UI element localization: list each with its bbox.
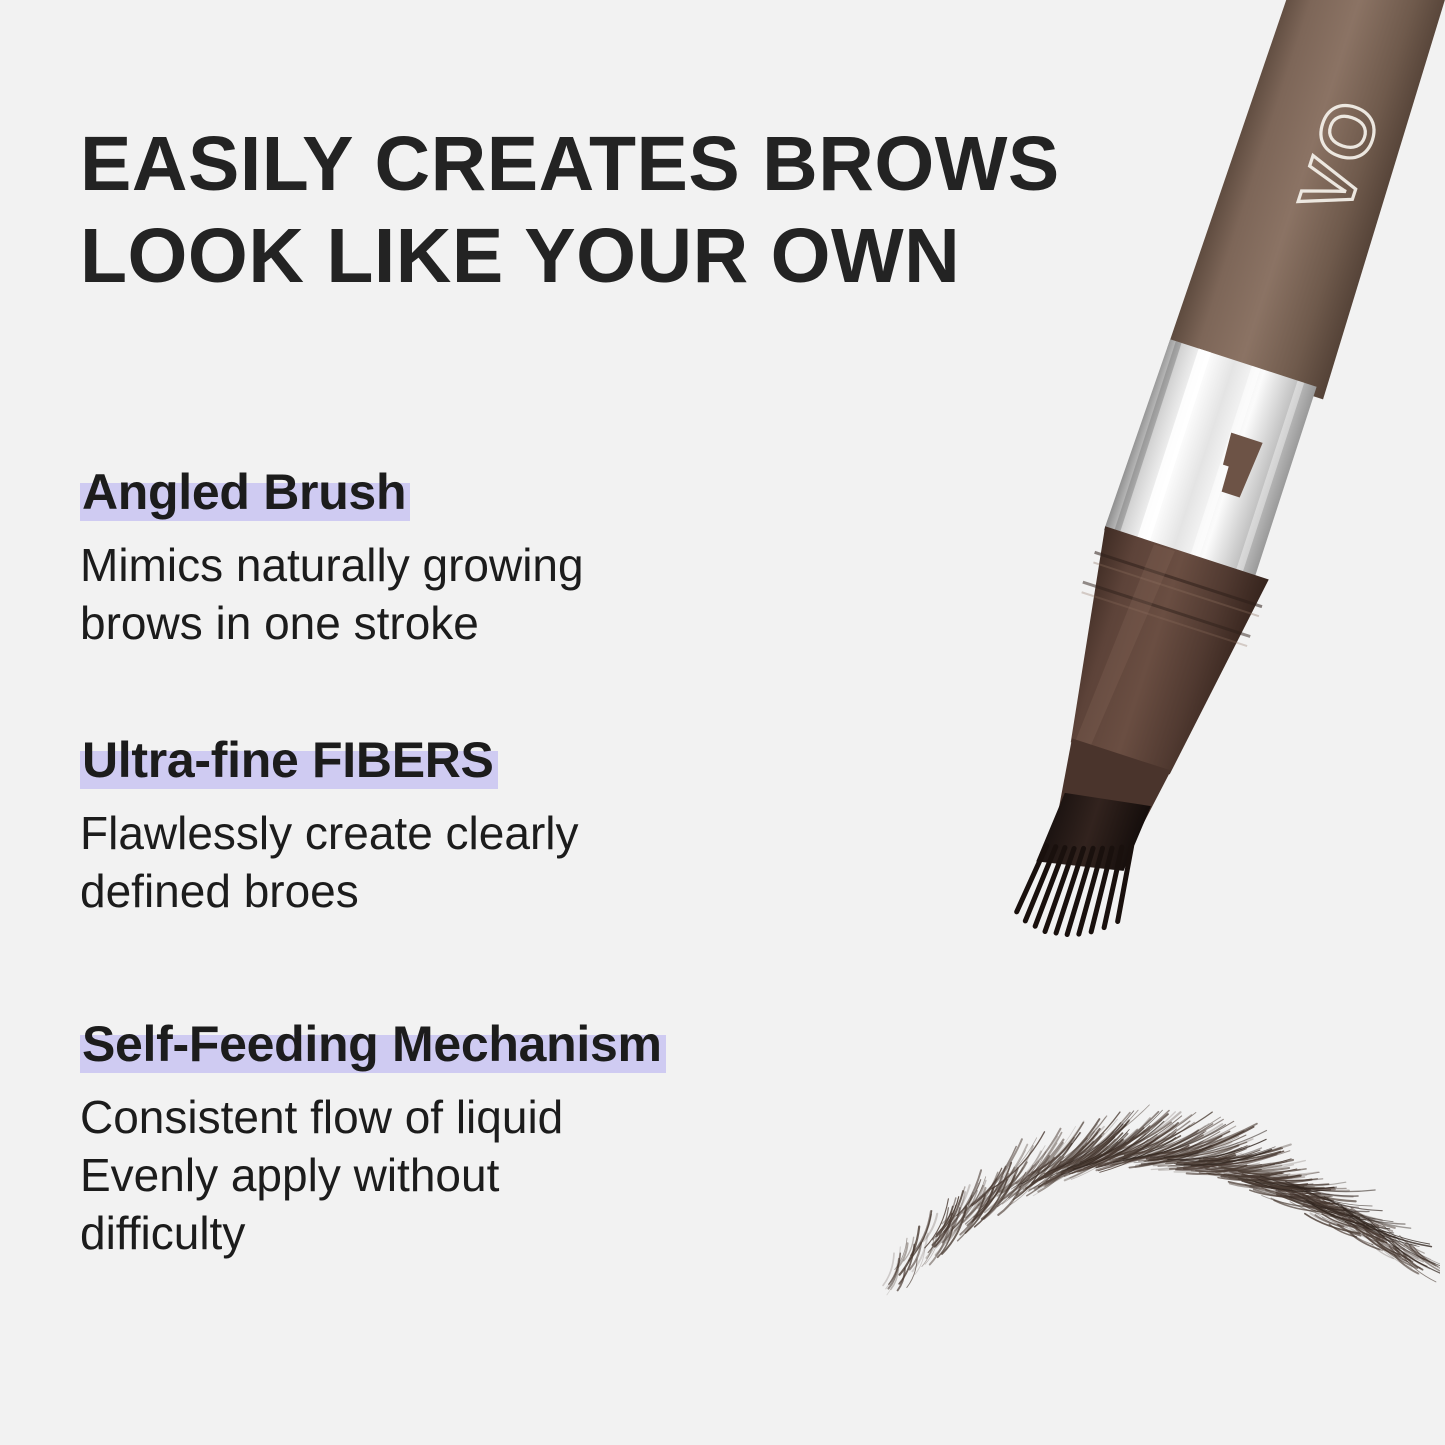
brow-hair: [1105, 1122, 1194, 1164]
brow-hair: [1251, 1186, 1330, 1197]
brow-hair: [1291, 1195, 1338, 1208]
brow-hair: [1176, 1155, 1277, 1171]
brow-hair: [1176, 1150, 1271, 1166]
brow-hair: [1026, 1144, 1072, 1189]
brow-hair: [1394, 1255, 1418, 1274]
brow-hair: [1224, 1175, 1273, 1178]
product-feature-graphic: EASILY CREATES BROWS LOOK LIKE YOUR OWN …: [0, 0, 1445, 1445]
brow-hair: [1323, 1205, 1357, 1217]
brow-hair: [1205, 1166, 1282, 1171]
brow-hair: [1378, 1242, 1418, 1268]
brow-hair: [1265, 1181, 1324, 1188]
brow-hair: [1294, 1195, 1346, 1207]
brow-hair: [1353, 1225, 1383, 1242]
brow-hair: [989, 1138, 1037, 1191]
brow-hair: [1123, 1125, 1226, 1159]
brow-hair: [1230, 1172, 1301, 1177]
brow-hair: [1246, 1179, 1323, 1189]
brow-hair: [1120, 1125, 1190, 1158]
brow-hair: [1224, 1175, 1269, 1178]
brow-hair: [1151, 1149, 1232, 1170]
brow-hair: [1069, 1112, 1159, 1172]
brow-hair: [1363, 1234, 1400, 1257]
brow-hair: [979, 1173, 1009, 1211]
brow-hair: [1222, 1167, 1306, 1172]
brow-hair: [966, 1179, 998, 1224]
brow-hair: [1342, 1210, 1409, 1241]
brow-hair: [971, 1147, 1016, 1205]
brow-hair: [1135, 1151, 1188, 1167]
brow-hair: [1338, 1225, 1360, 1236]
brow-hair: [1257, 1178, 1334, 1189]
brow-hair: [1321, 1209, 1368, 1225]
brow-hair: [1035, 1138, 1094, 1190]
brow-hair: [1203, 1148, 1282, 1159]
brow-hair: [1021, 1132, 1080, 1184]
brow-hair: [1252, 1184, 1301, 1189]
brow-hair: [1405, 1245, 1425, 1260]
brow-hair: [1054, 1113, 1130, 1172]
brow-hair: [1277, 1195, 1328, 1204]
feature-body-text: Consistent flow of liquid Evenly apply w…: [80, 1088, 940, 1262]
brow-hair: [1242, 1173, 1322, 1180]
brow-hair: [1350, 1232, 1373, 1245]
brow-hair: [1034, 1143, 1086, 1189]
brow-hair: [1187, 1165, 1247, 1173]
brow-hair: [978, 1177, 1002, 1208]
brow-hair: [1018, 1126, 1076, 1186]
brow-hair: [1286, 1182, 1358, 1197]
brow-hair: [1391, 1249, 1407, 1261]
brow-hair: [1393, 1239, 1418, 1258]
brow-hair: [970, 1139, 1022, 1206]
brow-hair: [1148, 1139, 1221, 1164]
brow-hair: [1292, 1192, 1405, 1224]
brow-hair: [1334, 1211, 1384, 1231]
brow-hair: [1011, 1162, 1039, 1190]
brow-hair: [1180, 1148, 1261, 1161]
brow-hair: [1281, 1196, 1345, 1211]
brow-hair: [1291, 1190, 1331, 1200]
brow-hair: [1078, 1140, 1122, 1166]
brow-hair: [1317, 1198, 1359, 1213]
brow-hair: [1029, 1138, 1074, 1176]
brow-hair: [1162, 1142, 1232, 1162]
brow-hair: [979, 1145, 1028, 1206]
brow-hair: [1387, 1237, 1410, 1253]
brow-hair: [1251, 1179, 1313, 1185]
brow-hair: [1168, 1139, 1266, 1159]
brow-hair: [1297, 1187, 1372, 1206]
brow-hair: [1288, 1190, 1325, 1197]
brow-hair: [963, 1188, 985, 1222]
brow-hair: [1058, 1133, 1103, 1167]
brow-hair: [1359, 1219, 1399, 1239]
brow-hair: [1002, 1129, 1061, 1193]
brow-hair: [1165, 1135, 1246, 1157]
brow-hair: [1228, 1172, 1319, 1177]
brow-hair: [1316, 1213, 1356, 1228]
brow-hair: [1246, 1185, 1298, 1191]
brow-hair: [1064, 1147, 1107, 1177]
brow-hair: [1396, 1249, 1413, 1262]
brow-hair: [1090, 1125, 1173, 1168]
brow-hair: [1392, 1233, 1431, 1260]
brow-hair: [937, 1197, 959, 1237]
pen-tip-base: [1036, 778, 1151, 890]
brow-hair: [1394, 1238, 1412, 1252]
brow-hair: [1173, 1139, 1253, 1156]
brow-hair: [1212, 1167, 1261, 1172]
brow-hair: [1367, 1236, 1393, 1253]
brow-hair: [1364, 1226, 1393, 1242]
brow-hair: [1352, 1215, 1379, 1228]
brow-hair: [1047, 1112, 1120, 1174]
pen-window-cutout: [1213, 433, 1263, 499]
brow-hair: [1044, 1127, 1104, 1171]
brow-hair: [1248, 1179, 1314, 1187]
brow-hair: [973, 1163, 1011, 1220]
brow-hair: [1148, 1135, 1236, 1161]
brow-hair: [1307, 1199, 1366, 1220]
pen-metal-band: [1104, 338, 1330, 583]
brow-hair: [1132, 1135, 1203, 1158]
pen-cone: [1038, 526, 1268, 785]
brow-hair: [1368, 1219, 1440, 1270]
brow-hair: [1130, 1136, 1222, 1168]
brow-hair: [1164, 1146, 1215, 1156]
brow-hair: [998, 1172, 1026, 1206]
brow-hair: [1245, 1181, 1304, 1187]
brow-hair: [1088, 1130, 1150, 1169]
brow-hair: [1029, 1157, 1064, 1191]
brow-hair: [1123, 1133, 1197, 1161]
brow-hair: [1057, 1142, 1094, 1168]
brow-hair: [1235, 1177, 1346, 1187]
brow-hair: [1109, 1124, 1209, 1168]
brow-hair: [1124, 1124, 1222, 1163]
brow-hair: [1099, 1140, 1148, 1167]
brow-hair: [1049, 1119, 1118, 1174]
brow-hair: [998, 1187, 1020, 1215]
brow-hair: [1086, 1137, 1134, 1165]
brow-hair: [1328, 1213, 1356, 1226]
brow-hair: [1139, 1132, 1220, 1161]
brow-hair: [1072, 1128, 1144, 1173]
brow-hair: [1231, 1169, 1319, 1175]
brow-hair: [1357, 1219, 1394, 1237]
brow-hair: [1086, 1131, 1144, 1161]
brow-hair: [1324, 1197, 1393, 1222]
brow-hair: [1154, 1145, 1202, 1157]
brow-hair: [1343, 1217, 1371, 1232]
brow-hair: [891, 1268, 899, 1289]
brow-hair: [985, 1146, 1033, 1212]
brow-hair: [1119, 1117, 1220, 1159]
brow-hair: [1116, 1112, 1212, 1155]
brow-hair: [1346, 1213, 1416, 1245]
brow-hair: [1403, 1250, 1429, 1269]
brow-hair: [1245, 1176, 1328, 1185]
brow-hair: [1117, 1141, 1173, 1165]
brow-hair: [1130, 1121, 1234, 1160]
brow-hair: [1316, 1199, 1342, 1208]
brow-hair: [1307, 1193, 1334, 1201]
brow-hair: [1311, 1213, 1347, 1227]
brow-hair: [1366, 1227, 1383, 1237]
brow-hair: [1218, 1175, 1299, 1180]
brow-hair: [1191, 1159, 1291, 1172]
brow-hair: [1385, 1232, 1405, 1246]
brow-hair: [957, 1180, 981, 1216]
brow-hair: [1097, 1139, 1145, 1162]
brow-hair: [1242, 1181, 1297, 1187]
brow-hair: [1274, 1178, 1346, 1189]
brow-hair: [1361, 1215, 1392, 1231]
brow-hair: [1098, 1122, 1171, 1155]
brow-hair: [1111, 1124, 1213, 1166]
brow-hair: [1096, 1138, 1157, 1168]
brow-hair: [1357, 1222, 1392, 1242]
brow-hair: [1039, 1116, 1107, 1172]
brow-hair: [1148, 1127, 1253, 1161]
brow-hair: [1276, 1192, 1335, 1203]
brow-hair: [1329, 1224, 1356, 1237]
brow-hair: [1062, 1134, 1129, 1175]
brow-hair: [1097, 1125, 1177, 1162]
brow-hair: [1276, 1190, 1369, 1211]
brow-hair: [1274, 1200, 1323, 1212]
brow-hair: [1071, 1131, 1141, 1180]
brow-hair: [998, 1168, 1023, 1196]
brow-hair: [942, 1187, 965, 1224]
brow-hair: [1378, 1244, 1413, 1268]
brow-hair: [1393, 1243, 1427, 1267]
brow-hair: [1197, 1151, 1290, 1165]
brow-hair: [1322, 1217, 1359, 1232]
brow-hair: [1032, 1117, 1105, 1184]
brow-hair: [1250, 1190, 1299, 1197]
brow-hair: [1283, 1189, 1338, 1204]
brow-hair: [1002, 1133, 1062, 1200]
brow-hair: [1372, 1244, 1393, 1258]
brow-hair: [1080, 1134, 1146, 1171]
brow-hair: [1193, 1160, 1248, 1166]
brow-hair: [1242, 1175, 1292, 1179]
brow-hair: [1118, 1133, 1180, 1156]
brow-hair: [1395, 1255, 1419, 1274]
brow-hair: [1073, 1121, 1164, 1169]
brow-hair: [1099, 1123, 1178, 1166]
brow-hair: [1270, 1185, 1302, 1192]
brow-hair: [1351, 1208, 1394, 1228]
brow-hair: [1350, 1222, 1374, 1234]
brow-hair: [1293, 1194, 1346, 1209]
brow-hair: [1351, 1233, 1380, 1249]
brow-hair: [963, 1186, 983, 1213]
brow-hair: [1048, 1111, 1134, 1172]
brow-hair: [1404, 1254, 1423, 1270]
brow-hair: [1060, 1110, 1138, 1168]
brow-hair: [1018, 1121, 1083, 1184]
brow-hair: [1338, 1216, 1369, 1230]
brow-hair: [1151, 1132, 1243, 1157]
brow-hair: [1150, 1131, 1244, 1160]
brow-hair: [1167, 1146, 1239, 1162]
brow-hair: [972, 1168, 1002, 1205]
brow-hair: [1105, 1146, 1145, 1166]
brow-hair: [1229, 1176, 1287, 1180]
brow-hair: [1184, 1156, 1239, 1167]
brow-hair: [1047, 1124, 1123, 1181]
brow-hair: [1013, 1172, 1039, 1199]
brow-hair: [1242, 1174, 1317, 1180]
brow-hair: [998, 1146, 1045, 1196]
brow-hair: [1232, 1172, 1304, 1179]
brow-hair: [1286, 1188, 1328, 1199]
brow-hair: [1045, 1132, 1113, 1186]
brow-hair: [1323, 1200, 1352, 1210]
brow-hair: [1159, 1152, 1234, 1170]
brow-hair: [1307, 1200, 1360, 1216]
brow-hair: [949, 1206, 966, 1237]
brow-hair: [1126, 1130, 1199, 1161]
brow-hair: [1125, 1136, 1181, 1155]
brow-hair: [1363, 1228, 1387, 1243]
brow-hair: [1154, 1155, 1198, 1166]
brow-hair: [1009, 1165, 1036, 1194]
brow-hair: [1255, 1184, 1330, 1191]
brow-hair: [1033, 1138, 1088, 1182]
brow-hair: [1192, 1145, 1291, 1160]
brow-hair: [1363, 1225, 1385, 1238]
brow-hair: [1308, 1198, 1345, 1210]
brow-hair: [1158, 1147, 1212, 1159]
feature-block-self-feeding-mechanism: Self-Feeding Mechanism Consistent flow o…: [80, 1014, 940, 1262]
brow-hair: [889, 1259, 900, 1289]
brow-hair: [1317, 1204, 1359, 1218]
brow-hair: [1024, 1157, 1061, 1190]
brow-hair: [1367, 1232, 1406, 1257]
brow-hair: [1060, 1105, 1149, 1162]
brow-hair: [982, 1168, 1018, 1219]
brow-hair: [1010, 1160, 1049, 1205]
brow-hair: [1315, 1215, 1343, 1227]
brow-hair: [1264, 1184, 1298, 1190]
brow-hair: [1146, 1145, 1196, 1161]
brow-hair: [1199, 1169, 1261, 1174]
brow-hair: [998, 1151, 1041, 1203]
brow-hair: [1218, 1161, 1305, 1169]
brow-hair: [1039, 1136, 1101, 1187]
feature-heading: Ultra-fine FIBERS: [80, 730, 498, 790]
brow-hair: [1236, 1173, 1307, 1178]
brow-hair: [1239, 1179, 1312, 1183]
brow-hair: [1029, 1132, 1094, 1191]
brow-hair: [1070, 1129, 1138, 1178]
brow-hair: [1134, 1141, 1203, 1163]
brow-hair: [1239, 1171, 1282, 1174]
brow-hair: [1045, 1122, 1128, 1178]
brow-hair: [1255, 1182, 1320, 1192]
brow-hair: [982, 1167, 1014, 1207]
feature-heading: Self-Feeding Mechanism: [80, 1014, 666, 1074]
brow-hair: [1163, 1143, 1238, 1163]
brow-hair: [1129, 1131, 1206, 1161]
brow-hair: [1113, 1143, 1163, 1165]
brow-hair: [1017, 1158, 1054, 1195]
brow-hair: [967, 1167, 1005, 1226]
brow-hair: [1170, 1154, 1235, 1169]
brow-hair: [907, 1259, 917, 1288]
brow-hair: [984, 1151, 1025, 1200]
brow-hair: [1000, 1162, 1027, 1192]
brow-hair: [1409, 1245, 1440, 1272]
brow-hair: [1071, 1133, 1127, 1171]
brow-hair: [1260, 1176, 1375, 1192]
brow-hair: [1352, 1221, 1384, 1236]
brow-hair: [1177, 1149, 1245, 1163]
brow-hair: [1256, 1183, 1321, 1193]
brow-hair: [1366, 1227, 1389, 1240]
brow-hair: [1087, 1112, 1180, 1164]
brow-hair: [980, 1169, 1008, 1206]
brow-hair: [1249, 1182, 1334, 1189]
brow-hair: [1216, 1173, 1284, 1176]
brow-hair: [1279, 1190, 1309, 1196]
brow-hair: [1177, 1157, 1226, 1168]
brow-hair: [1212, 1155, 1273, 1161]
brow-hair: [1303, 1194, 1330, 1203]
brow-hair: [1067, 1130, 1129, 1169]
brow-hair: [942, 1207, 966, 1254]
brow-hair: [1147, 1146, 1189, 1159]
feature-heading-text: Ultra-fine FIBERS: [82, 732, 494, 788]
brow-hair: [1040, 1129, 1100, 1180]
brow-hair: [1225, 1170, 1300, 1174]
brow-hair: [1331, 1216, 1367, 1232]
brow-hair: [1050, 1123, 1120, 1178]
page-headline: EASILY CREATES BROWS LOOK LIKE YOUR OWN: [80, 118, 1210, 302]
brow-hair: [1165, 1148, 1241, 1164]
brow-hair: [943, 1208, 960, 1243]
brow-hair: [1349, 1219, 1368, 1228]
brow-hair: [960, 1195, 985, 1235]
svg-text:VO: VO: [1283, 88, 1397, 223]
brow-hair: [1199, 1163, 1260, 1169]
brow-hair: [1389, 1246, 1420, 1268]
brow-hair: [1296, 1192, 1359, 1207]
brow-hair: [1148, 1131, 1230, 1155]
brow-hair: [1033, 1134, 1097, 1196]
brow-hair: [1303, 1196, 1355, 1213]
brow-hair: [1349, 1226, 1380, 1242]
brow-hair: [1184, 1150, 1260, 1164]
brow-hair: [1066, 1122, 1129, 1165]
brow-hair: [1007, 1165, 1033, 1195]
brow-hair: [1209, 1173, 1269, 1176]
feature-heading-text: Self-Feeding Mechanism: [82, 1016, 662, 1072]
brow-hair: [992, 1132, 1045, 1189]
pen-tip-tines: [1014, 819, 1142, 952]
brow-hair: [1065, 1118, 1150, 1180]
brow-hair: [1411, 1244, 1440, 1271]
brow-hair: [1203, 1162, 1287, 1169]
brow-hair: [1018, 1143, 1063, 1185]
brow-hair: [1338, 1213, 1373, 1229]
brow-hair: [1198, 1153, 1242, 1159]
brow-hair: [1209, 1169, 1258, 1173]
